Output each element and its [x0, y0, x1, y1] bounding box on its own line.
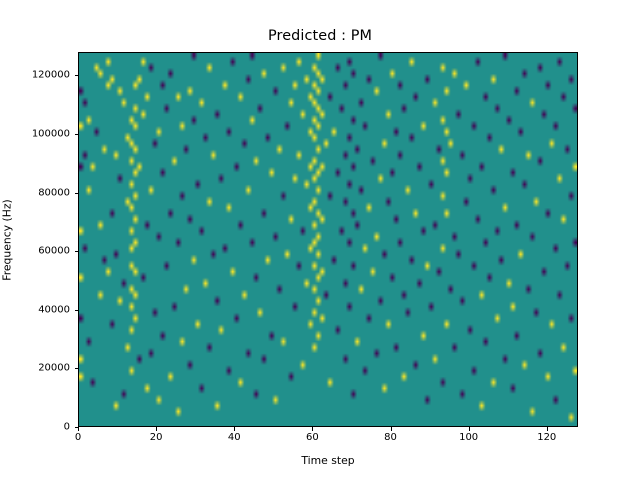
x-tick-label: 20 — [150, 432, 163, 443]
y-tick-label: 60000 — [38, 246, 70, 257]
y-tick-label: 20000 — [38, 363, 70, 374]
x-tick-label: 0 — [75, 432, 81, 443]
x-tick-label: 40 — [228, 432, 241, 443]
y-tick-mark — [75, 134, 79, 135]
x-tick-label: 60 — [306, 432, 319, 443]
matplotlib-figure: Predicted : PM 020406080100120 020000400… — [0, 0, 640, 480]
y-tick-mark — [75, 427, 79, 428]
x-tick-label: 120 — [537, 432, 556, 443]
y-tick-mark — [75, 193, 79, 194]
x-tick-mark — [156, 427, 157, 431]
y-tick-label: 100000 — [32, 129, 70, 140]
y-tick-mark — [75, 368, 79, 369]
heatmap-axes — [78, 52, 578, 427]
x-tick-mark — [391, 427, 392, 431]
y-tick-label: 80000 — [38, 187, 70, 198]
y-axis-label-text: Frequency (Hz) — [1, 199, 14, 280]
y-tick-mark — [75, 75, 79, 76]
y-tick-mark — [75, 251, 79, 252]
x-tick-mark — [78, 427, 79, 431]
chart-title: Predicted : PM — [0, 28, 640, 44]
y-tick-label: 0 — [64, 422, 70, 433]
y-axis-label: Frequency (Hz) — [0, 52, 14, 427]
x-tick-mark — [469, 427, 470, 431]
x-tick-mark — [234, 427, 235, 431]
y-tick-mark — [75, 310, 79, 311]
y-tick-label: 40000 — [38, 304, 70, 315]
x-tick-mark — [547, 427, 548, 431]
x-tick-label: 100 — [459, 432, 478, 443]
x-tick-label: 80 — [384, 432, 397, 443]
y-tick-label: 120000 — [32, 70, 70, 81]
x-axis-label: Time step — [78, 454, 578, 467]
heatmap-image — [79, 53, 577, 426]
x-tick-mark — [312, 427, 313, 431]
